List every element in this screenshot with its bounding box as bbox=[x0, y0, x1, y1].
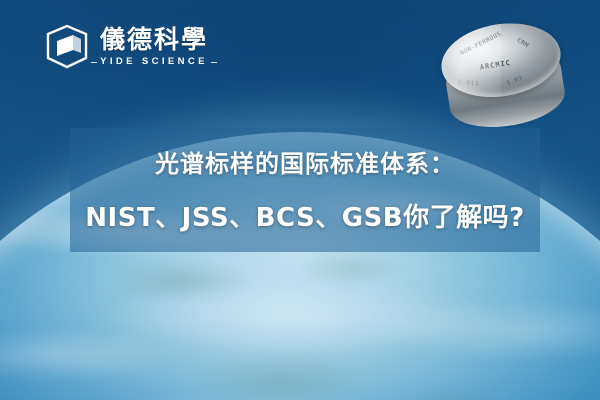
title-line-2: NIST、JSS、BCS、GSB你了解吗? bbox=[80, 197, 530, 234]
banner-image: 儀德科學 YIDE SCIENCE NON-FERROUS CRM ARCMIC… bbox=[0, 0, 600, 400]
brand-wordmark: 儀德科學 YIDE SCIENCE bbox=[100, 27, 208, 67]
title-line-1: 光谱标样的国际标准体系： bbox=[80, 144, 530, 179]
disc-specular-highlight bbox=[436, 15, 502, 105]
title-banner: 光谱标样的国际标准体系： NIST、JSS、BCS、GSB你了解吗? bbox=[70, 128, 540, 252]
brand-name-en: YIDE SCIENCE bbox=[100, 57, 208, 67]
yide-cube-logo-icon bbox=[44, 24, 90, 70]
disc-marking-1: CRM bbox=[516, 37, 530, 50]
brand-name-cn: 儀德科學 bbox=[100, 27, 208, 52]
disc-marking-4: 5-03 bbox=[506, 75, 524, 87]
brand-logo: 儀德科學 YIDE SCIENCE bbox=[44, 24, 208, 70]
